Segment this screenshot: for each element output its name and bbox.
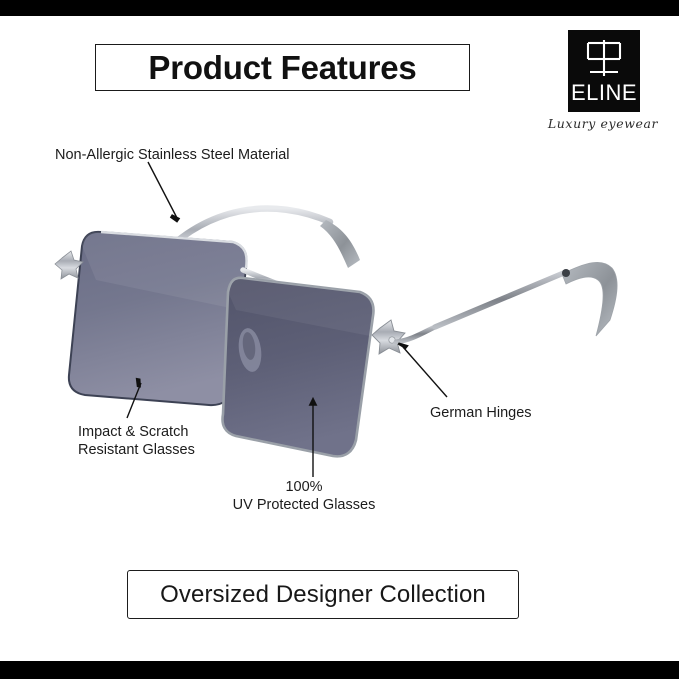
right-lens-group	[223, 278, 374, 457]
right-temple-arm	[396, 262, 617, 342]
collection-banner-text: Oversized Designer Collection	[160, 581, 486, 609]
annotation-stainless-steel: Non-Allergic Stainless Steel Material	[55, 146, 290, 164]
annotation-uv-protection: 100% UV Protected Glasses	[228, 478, 380, 514]
annotation-impact-scratch: Impact & Scratch Resistant Glasses	[78, 423, 195, 459]
page-title: Product Features	[148, 49, 416, 87]
letterbox-bar-bottom	[0, 661, 679, 679]
letterbox-bar-top	[0, 0, 679, 16]
infographic-page: Product Features ELINE Luxury eyewear	[0, 0, 679, 679]
annotation-german-hinges: German Hinges	[430, 404, 532, 422]
page-title-box: Product Features	[95, 44, 470, 91]
logo-tagline: Luxury eyewear	[543, 116, 663, 131]
brand-logo: ELINE Luxury eyewear	[543, 30, 663, 140]
right-hinge-ornament	[372, 320, 405, 354]
left-lens-group	[69, 232, 247, 405]
mirrored-e-monogram-icon	[568, 34, 640, 82]
collection-banner-box: Oversized Designer Collection	[127, 570, 519, 619]
logo-brand-name: ELINE	[568, 80, 640, 106]
